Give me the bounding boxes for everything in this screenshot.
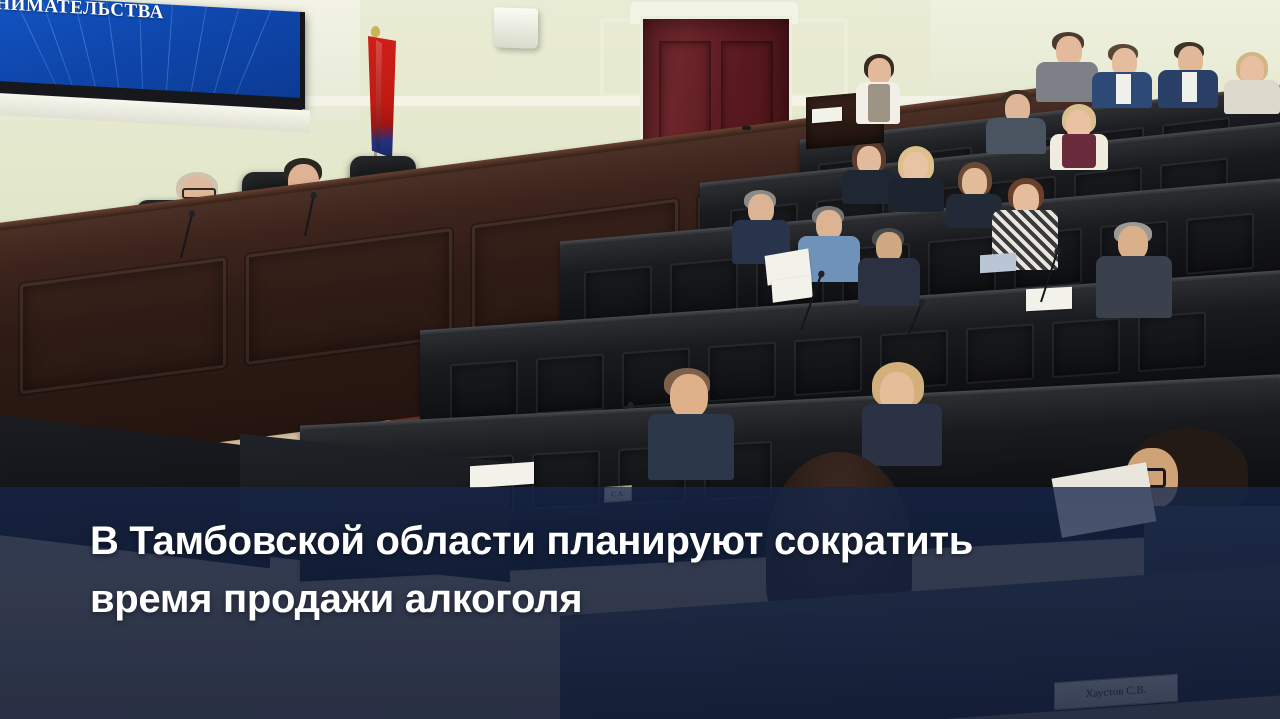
desk-panel	[20, 257, 226, 394]
door-handle-icon	[742, 126, 751, 130]
wall-speaker-icon	[494, 7, 538, 49]
caption-text: В Тамбовской области планируют сократить…	[90, 512, 1220, 628]
caption-line-2: время продажи алкоголя	[90, 570, 1220, 628]
flag-finial	[371, 26, 380, 37]
foreground-paper-1	[470, 462, 534, 488]
regional-flag	[368, 36, 396, 158]
tier-paper-3	[1026, 287, 1072, 311]
caption-line-1: В Тамбовской области планируют сократить	[90, 519, 973, 563]
lectern-paper	[812, 107, 842, 124]
video-still-frame: РИНИМАТЕЛЬСТВА	[0, 0, 1280, 719]
tier-paper-4	[980, 253, 1016, 274]
